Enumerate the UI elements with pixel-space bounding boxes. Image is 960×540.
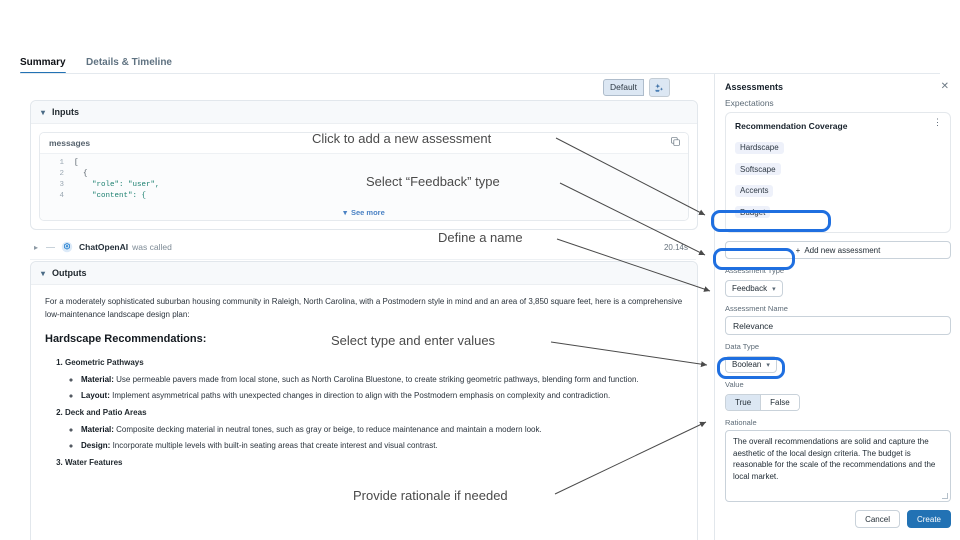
annotation-select-type: Select type and enter values: [331, 333, 495, 348]
add-button-label: Add new assessment: [804, 246, 880, 255]
bullet-label: Material:: [81, 425, 114, 434]
bullet-text: Implement asymmetrical paths with unexpe…: [112, 391, 610, 400]
call-duration: 20.14s: [664, 243, 688, 252]
close-icon[interactable]: ✕: [941, 82, 949, 92]
value-false-button[interactable]: False: [760, 395, 799, 410]
highlight-add-assessment: [711, 210, 831, 232]
code-text: "role": "user",: [74, 180, 160, 191]
section-title: Water Features: [65, 458, 123, 467]
kebab-menu-icon[interactable]: ⋮: [933, 121, 942, 124]
copy-icon[interactable]: [671, 137, 680, 148]
chevron-down-icon: ▾: [41, 108, 45, 117]
list-item: Design: Incorporate multiple levels with…: [81, 439, 683, 452]
chevron-down-icon: ▾: [772, 285, 776, 293]
bullet-text: Use permeable pavers made from local sto…: [116, 375, 639, 384]
assessment-type-select[interactable]: Feedback ▾: [725, 280, 783, 297]
bullet-label: Design:: [81, 441, 110, 450]
list-item: Material: Composite decking material in …: [81, 423, 683, 436]
panel-header: Assessments ✕: [715, 74, 960, 92]
sparkle-icon: [654, 83, 664, 93]
panel-title: Assessments: [725, 82, 783, 92]
chip-row: Softscape: [735, 159, 941, 181]
bullet-text: Incorporate multiple levels with built-i…: [113, 441, 438, 450]
tab-bar: Summary Details & Timeline: [20, 52, 940, 74]
bullet-label: Material:: [81, 375, 114, 384]
value-true-button[interactable]: True: [726, 395, 760, 410]
sub-list: Material: Use permeable pavers made from…: [81, 373, 683, 402]
tab-summary[interactable]: Summary: [20, 57, 66, 74]
list-item: Material: Use permeable pavers made from…: [81, 373, 683, 386]
value-label: Value: [725, 380, 960, 389]
inputs-title: Inputs: [52, 107, 79, 117]
highlight-assessment-type: [713, 248, 795, 270]
plus-icon: +: [796, 246, 801, 255]
expectation-chip: Softscape: [735, 163, 781, 175]
annotation-define-name: Define a name: [438, 230, 523, 245]
annotation-add-assessment: Click to add a new assessment: [312, 131, 491, 146]
section-title: Geometric Pathways: [65, 358, 144, 367]
inputs-card: ▾ Inputs messages 1[ 2 { 3 "role": "user…: [30, 100, 698, 230]
cancel-button[interactable]: Cancel: [855, 510, 900, 528]
line-number: 1: [48, 158, 64, 169]
assessments-panel: Assessments ✕ Expectations Recommendatio…: [714, 74, 960, 540]
list-item: Geometric Pathways Material: Use permeab…: [65, 356, 683, 402]
expectation-name: Recommendation Coverage: [735, 121, 941, 131]
line-number: 2: [48, 169, 64, 180]
code-line: 3 "role": "user",: [40, 180, 688, 191]
data-type-label: Data Type: [725, 342, 960, 351]
list-item: Deck and Patio Areas Material: Composite…: [65, 406, 683, 452]
sparkle-icon-button[interactable]: [649, 78, 670, 97]
see-more-label: See more: [351, 208, 385, 217]
trace-call-row[interactable]: ▸ ChatOpenAI was called 20.14s: [30, 235, 696, 260]
recommendation-list: Geometric Pathways Material: Use permeab…: [65, 356, 683, 469]
section-title: Deck and Patio Areas: [65, 408, 147, 417]
outputs-intro: For a moderately sophisticated suburban …: [45, 295, 683, 321]
inputs-header[interactable]: ▾ Inputs: [31, 101, 697, 124]
line-number: 4: [48, 191, 64, 202]
sub-list: Material: Composite decking material in …: [81, 423, 683, 452]
code-text: "content": {: [74, 191, 146, 202]
create-button[interactable]: Create: [907, 510, 951, 528]
view-mode-toggle: Default JSON: [603, 78, 670, 97]
assessment-type-value: Feedback: [732, 284, 767, 293]
line-number: 3: [48, 180, 64, 191]
outputs-body: For a moderately sophisticated suburban …: [31, 285, 697, 469]
chip-row: Hardscape: [735, 137, 941, 159]
code-line: 2 {: [40, 169, 688, 180]
highlight-value-toggle: [717, 357, 785, 379]
outputs-header[interactable]: ▾ Outputs: [31, 262, 697, 285]
annotation-feedback-type: Select “Feedback” type: [366, 174, 500, 189]
chip-row: Accents: [735, 180, 941, 202]
assessment-name-label: Assessment Name: [725, 304, 960, 313]
list-item: Layout: Implement asymmetrical paths wit…: [81, 389, 683, 402]
messages-code: 1[ 2 { 3 "role": "user", 4 "content": {: [40, 154, 688, 204]
call-status: was called: [132, 242, 172, 252]
code-line: 4 "content": {: [40, 191, 688, 202]
messages-label: messages: [49, 138, 90, 148]
annotation-provide-rationale: Provide rationale if needed: [353, 488, 508, 503]
rationale-textarea[interactable]: The overall recommendations are solid an…: [725, 430, 951, 502]
list-item: Water Features: [65, 456, 683, 469]
tab-details-timeline[interactable]: Details & Timeline: [86, 57, 172, 74]
code-text: {: [74, 169, 88, 180]
chevron-down-icon: ▾: [41, 269, 45, 278]
outputs-title: Outputs: [52, 268, 87, 278]
expectation-chip: Accents: [735, 185, 773, 197]
assessment-name-value: Relevance: [733, 321, 773, 331]
form-actions: Cancel Create: [715, 510, 951, 528]
code-line: 1[: [40, 158, 688, 169]
assessment-name-input[interactable]: Relevance: [725, 316, 951, 335]
bullet-text: Composite decking material in neutral to…: [116, 425, 542, 434]
code-text: [: [74, 158, 79, 169]
expectations-label: Expectations: [715, 92, 960, 112]
view-default-button[interactable]: Default: [603, 79, 644, 96]
call-name: ChatOpenAI: [79, 242, 128, 252]
value-toggle-group: True False: [725, 394, 800, 411]
expectation-chip: Hardscape: [735, 142, 784, 154]
rationale-label: Rationale: [725, 418, 960, 427]
chevron-down-icon: ▾: [343, 208, 347, 217]
openai-icon: [61, 241, 73, 253]
tree-connector: [46, 247, 55, 248]
see-more-button[interactable]: ▾ See more: [40, 204, 688, 220]
bullet-label: Layout:: [81, 391, 110, 400]
chevron-right-icon[interactable]: ▸: [34, 243, 38, 252]
